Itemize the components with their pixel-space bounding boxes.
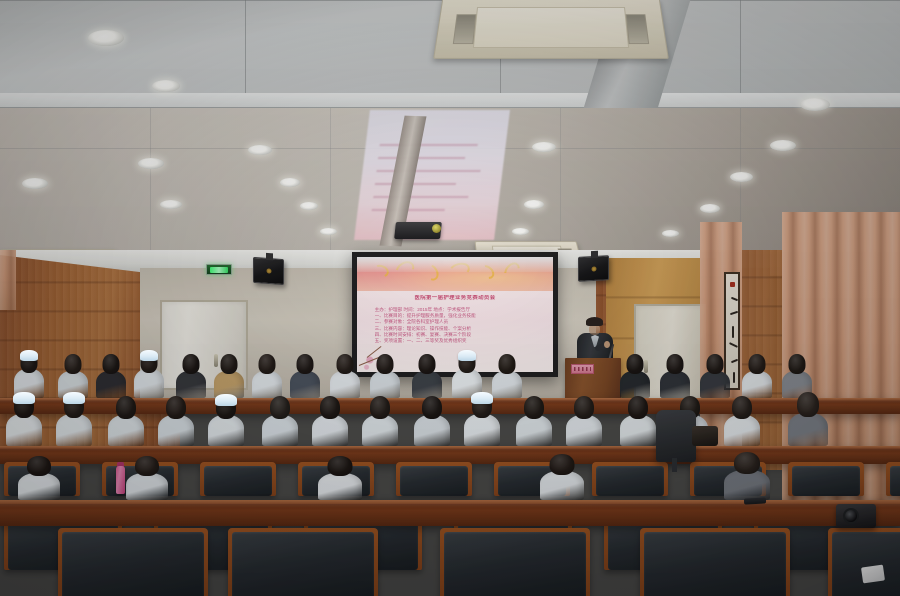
nurse-cap xyxy=(20,350,38,361)
audience-member-head xyxy=(135,456,159,476)
nurse-cap xyxy=(458,350,476,361)
audience-member xyxy=(318,456,362,500)
presenter-hair xyxy=(586,317,603,326)
screen-glare-band xyxy=(357,257,553,272)
audience-seating-area xyxy=(0,360,900,596)
emergency-exit-sign xyxy=(206,264,232,275)
audience-member xyxy=(724,452,770,500)
audience-member-torso xyxy=(318,473,362,500)
foreground-chair[interactable] xyxy=(640,528,790,596)
recessed-downlight xyxy=(160,200,182,209)
camera-lens-icon xyxy=(843,508,859,524)
nurse-cap xyxy=(13,392,35,404)
office-chair-post xyxy=(672,458,677,472)
audience-member-torso xyxy=(18,473,60,500)
chair-backrest-pad xyxy=(832,532,900,596)
recessed-downlight xyxy=(700,204,720,213)
tablet-device[interactable] xyxy=(744,497,766,504)
chair-backrest-pad xyxy=(232,532,374,596)
audience-member-torso xyxy=(724,470,770,500)
audience-member xyxy=(126,456,168,500)
downlights-group xyxy=(0,0,900,260)
audience-member-torso xyxy=(126,473,168,500)
shoulder-bag[interactable] xyxy=(692,426,718,446)
recessed-downlight xyxy=(532,142,556,152)
recessed-downlight xyxy=(300,202,318,210)
presenter-hand xyxy=(604,341,610,348)
recessed-downlight xyxy=(320,228,337,235)
wall-speaker-right xyxy=(578,255,609,282)
audience-member-head xyxy=(550,454,575,475)
nurse-cap xyxy=(215,394,237,406)
conference-hall-photo: 医院第一届护理业务竞赛动员会 主办：护理部 时间：2015年 地点：学术报告厅一… xyxy=(0,0,900,596)
audience-member xyxy=(540,454,584,500)
nurse-cap xyxy=(471,392,493,404)
recessed-downlight xyxy=(22,178,48,189)
nurse-cap xyxy=(63,392,85,404)
audience-member xyxy=(18,456,60,500)
audience-member-head xyxy=(734,452,760,474)
nurse-cap xyxy=(140,350,158,361)
audience-member-torso xyxy=(540,471,584,500)
recessed-downlight xyxy=(662,230,679,237)
recessed-downlight xyxy=(152,80,180,92)
pink-water-bottle[interactable] xyxy=(116,466,125,494)
foreground-chair[interactable] xyxy=(228,528,378,596)
foreground-chair[interactable] xyxy=(828,528,900,596)
recessed-downlight xyxy=(138,158,164,169)
foreground-chair[interactable] xyxy=(58,528,208,596)
front-desk-slab xyxy=(0,500,900,526)
recessed-downlight xyxy=(280,178,300,187)
recessed-downlight xyxy=(512,228,529,235)
recessed-downlight xyxy=(730,172,753,182)
black-office-chair[interactable] xyxy=(656,410,696,462)
chair-backrest-pad xyxy=(444,532,586,596)
recessed-downlight xyxy=(770,140,796,151)
recessed-downlight xyxy=(248,145,272,155)
foreground-chair[interactable] xyxy=(440,528,590,596)
curtain-far-left xyxy=(0,250,16,310)
recessed-downlight xyxy=(88,30,124,46)
wall-speaker-left xyxy=(253,257,284,285)
white-paper-sheet[interactable] xyxy=(861,565,885,584)
recessed-downlight xyxy=(800,98,830,111)
slide-title: 医院第一届护理业务竞赛动员会 xyxy=(373,295,538,302)
chair-backrest-pad xyxy=(62,532,204,596)
audience-member-head xyxy=(27,456,51,476)
audience-member-head xyxy=(328,456,353,476)
recessed-downlight xyxy=(524,200,544,209)
chair-backrest-pad xyxy=(644,532,786,596)
exit-sign-glow xyxy=(210,267,228,273)
